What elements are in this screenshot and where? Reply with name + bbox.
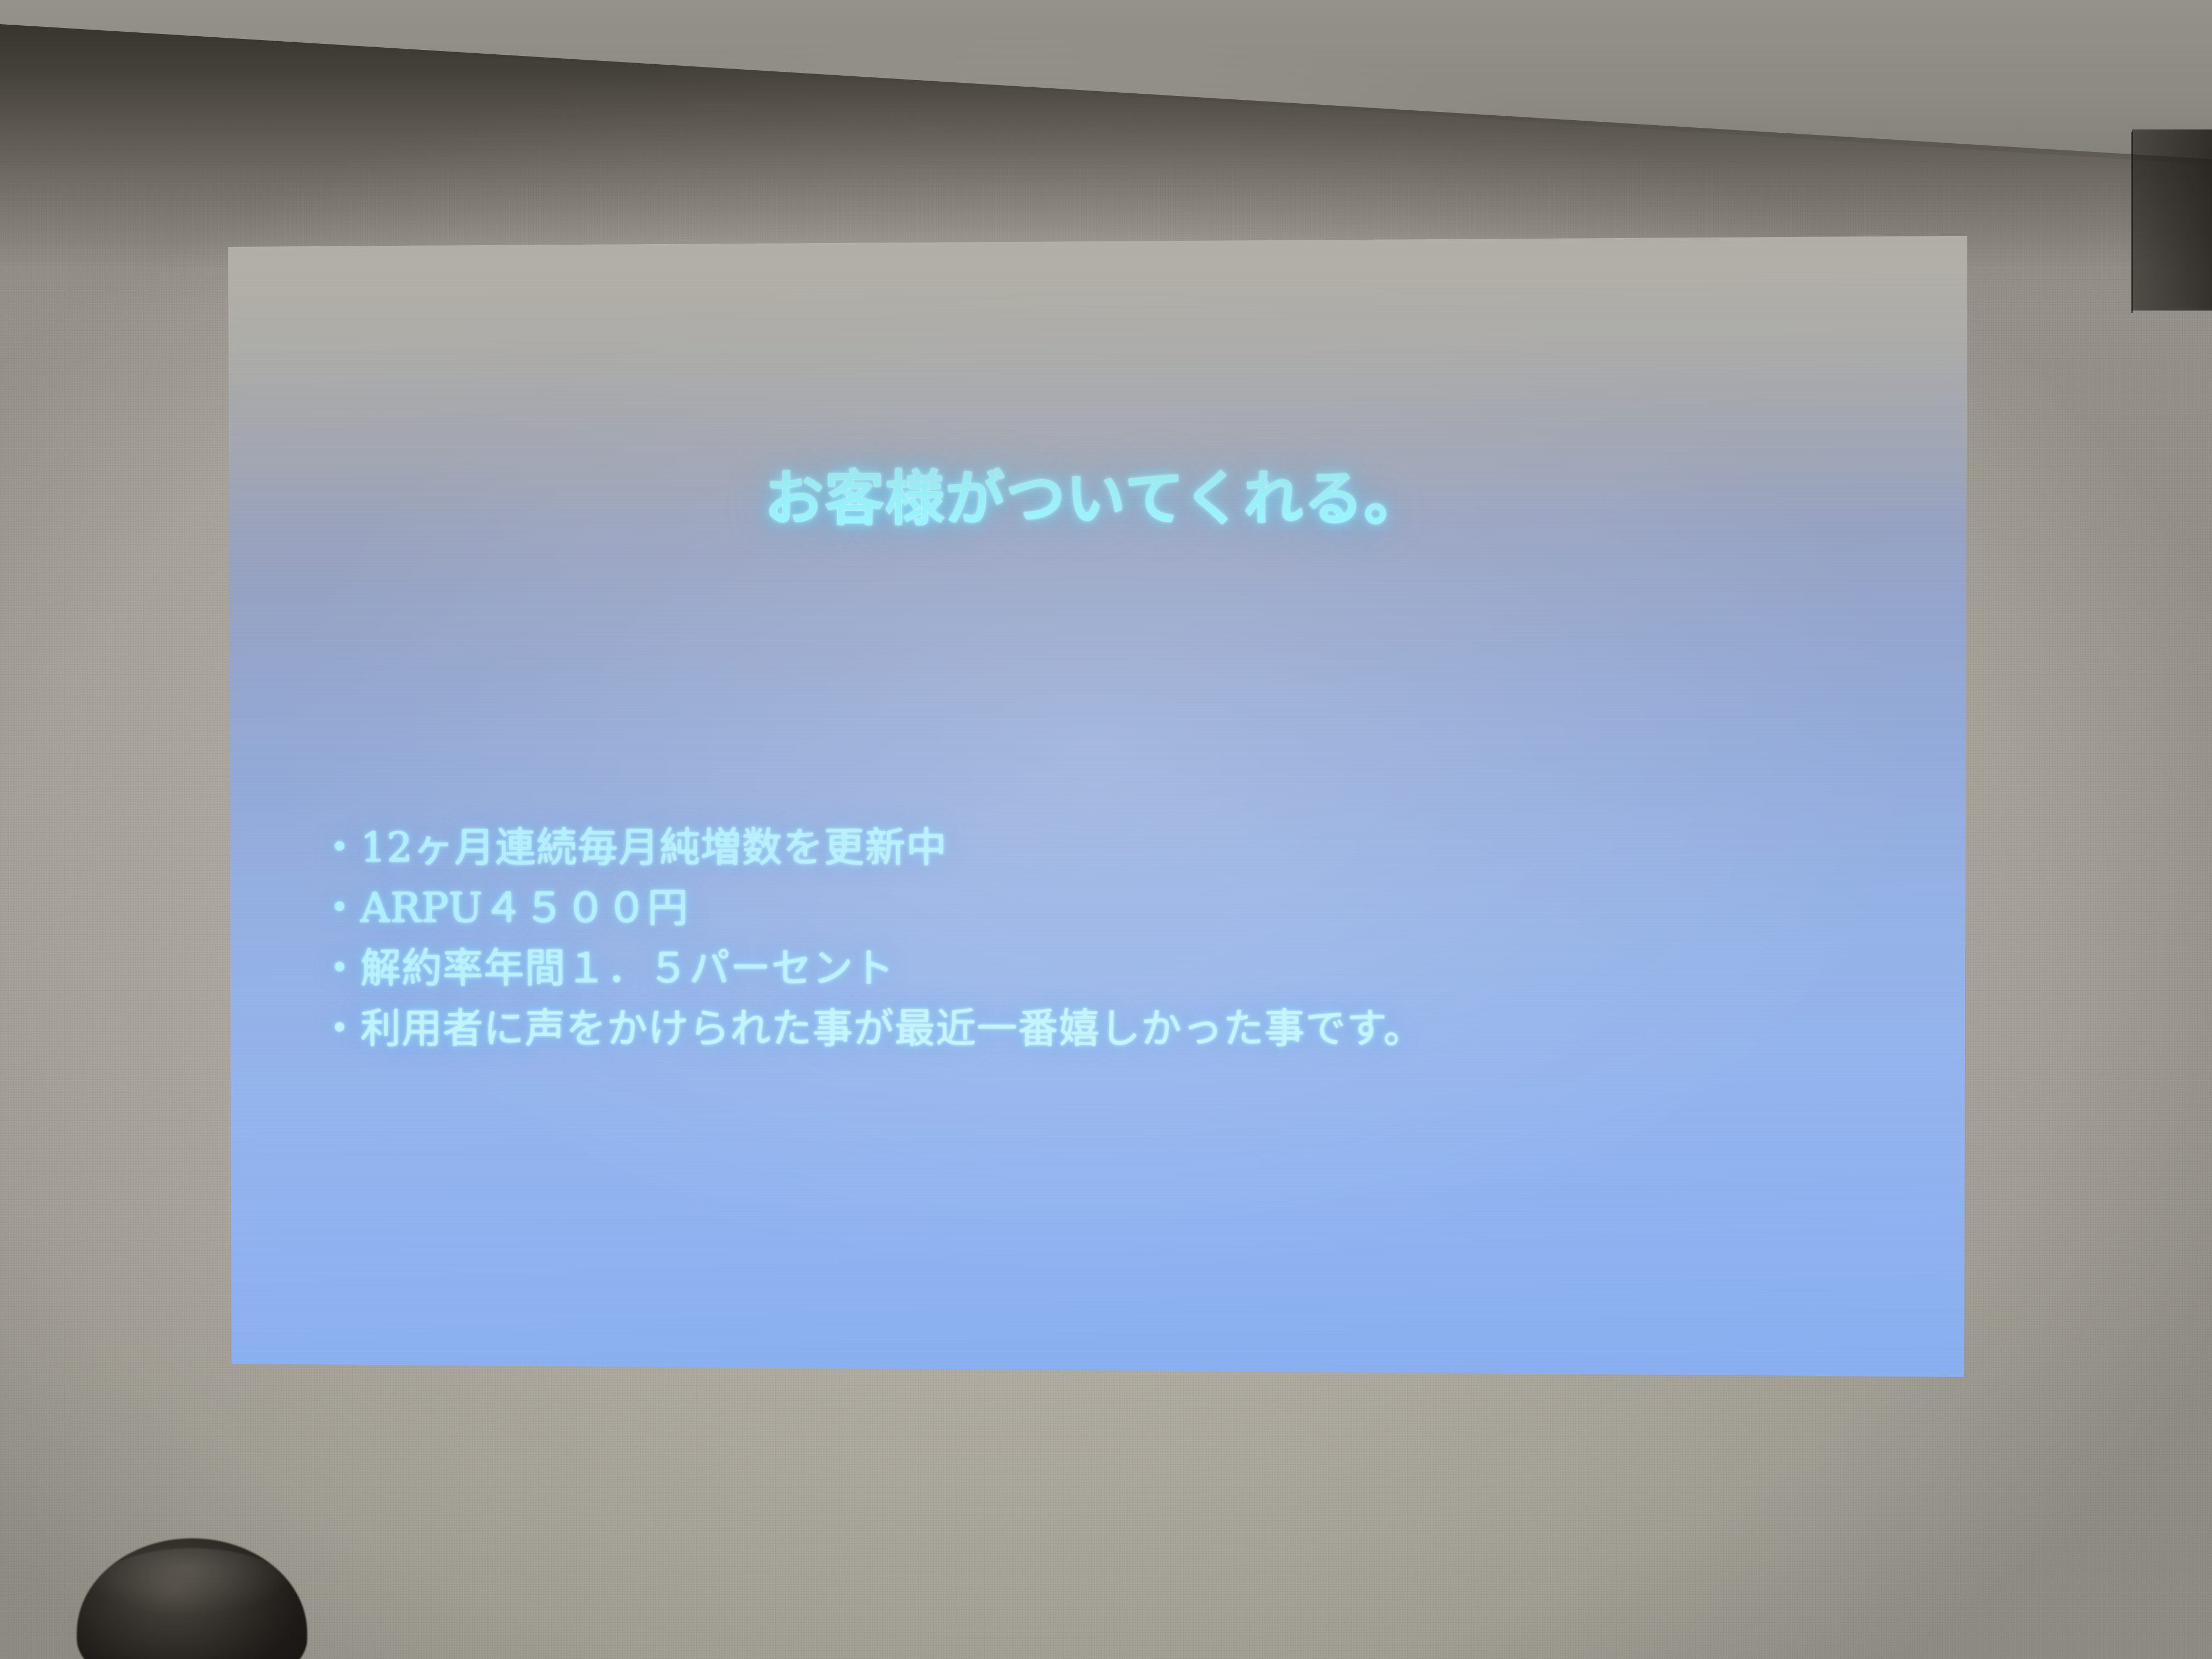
bullet-item-4: ・利用者に声をかけられた事が最近一番嬉しかった事です。 [319, 998, 1943, 1059]
slide-title: お客様がついてくれる。 [219, 466, 1970, 532]
slide-bullet-list: ・12ヶ月連続毎月純増数を更新中 ・ARPU４５００円 ・解約率年間１．５パーセ… [319, 817, 1943, 1059]
slide-content: お客様がついてくれる。 ・12ヶ月連続毎月純増数を更新中 ・ARPU４５００円 … [219, 236, 1970, 1383]
wall-corner-edge-right [2131, 132, 2133, 313]
bullet-item-2: ・ARPU４５００円 [319, 878, 1943, 938]
projected-slide: お客様がついてくれる。 ・12ヶ月連続毎月純増数を更新中 ・ARPU４５００円 … [219, 236, 1970, 1383]
projected-slide-photo: お客様がついてくれる。 ・12ヶ月連続毎月純増数を更新中 ・ARPU４５００円 … [0, 0, 2212, 1659]
bullet-item-3: ・解約率年間１．５パーセント [319, 938, 1943, 998]
bullet-item-1: ・12ヶ月連続毎月純増数を更新中 [319, 817, 1943, 878]
wall-corner-shadow-right [2132, 129, 2212, 311]
